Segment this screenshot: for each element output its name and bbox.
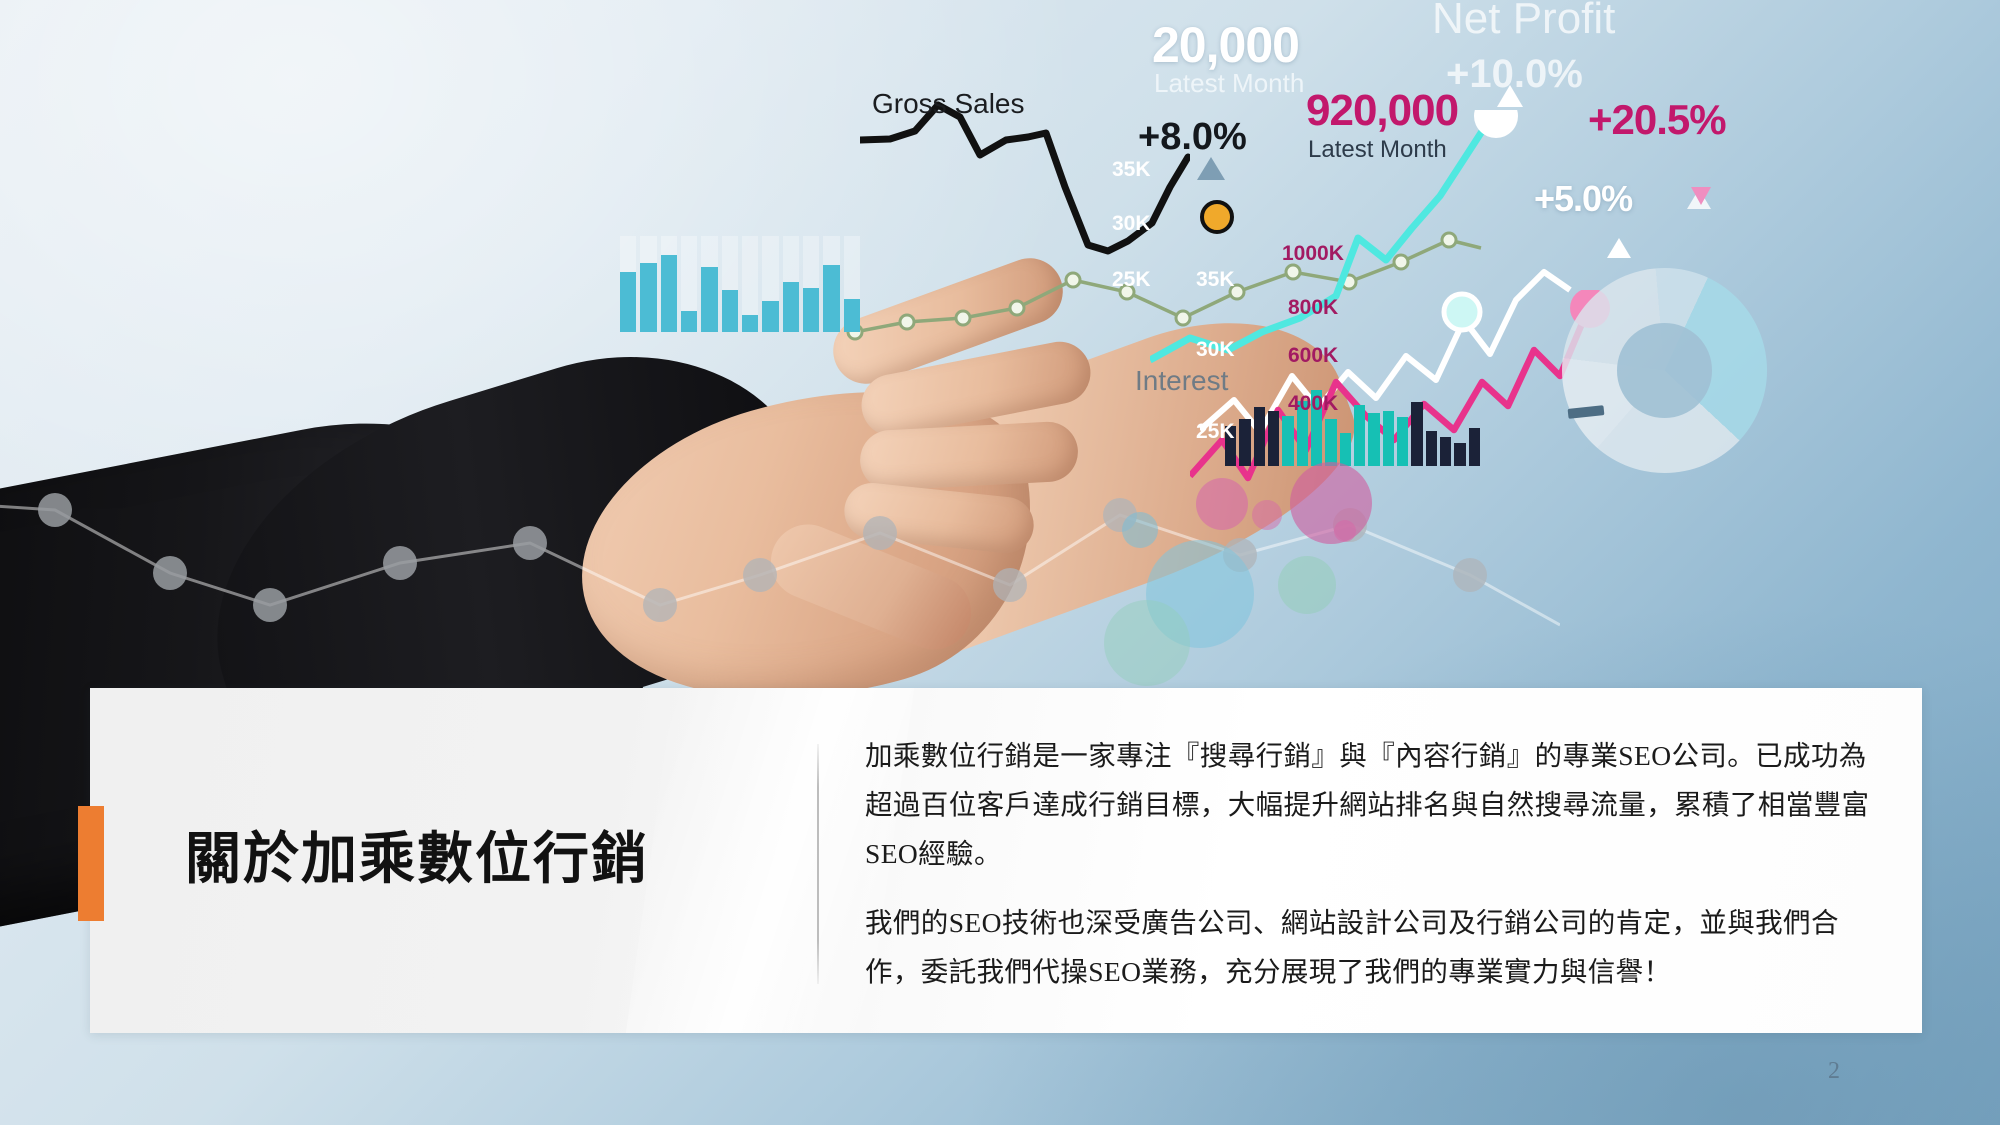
donut-chart [1562, 268, 1767, 473]
net-profit-label: Net Profit [1432, 0, 1615, 44]
secondary-change-white: +5.0% [1534, 178, 1632, 220]
axis-tick-right-1000k: 1000K [1282, 242, 1344, 266]
gross-sales-value: 20,000 [1152, 16, 1299, 74]
gross-sales-change: +8.0% [1138, 116, 1247, 159]
axis-tick-left-35k: 35K [1112, 158, 1151, 182]
interest-label: Interest [1135, 365, 1228, 397]
bubble [1196, 478, 1248, 530]
page-title: 關於加乘數位行銷 [185, 830, 785, 892]
axis-tick-left-30k: 30K [1112, 212, 1151, 236]
axis-tick-right-400k: 400K [1288, 392, 1338, 416]
amber-data-marker [1200, 200, 1234, 234]
axis-tick-right-800k: 800K [1288, 296, 1338, 320]
body-paragraph-1: 加乘數位行銷是一家專注『搜尋行銷』與『內容行銷』的專業SEO公司。已成功為超過百… [865, 732, 1875, 879]
down-triangle-marker-pink [1690, 186, 1712, 206]
bubble [1290, 462, 1372, 544]
bubble [1252, 500, 1282, 530]
axis-tick-left-25k: 25K [1112, 268, 1151, 292]
page-number: 2 [1828, 1058, 1840, 1085]
net-profit-caption: Latest Month [1308, 136, 1447, 164]
gross-sales-label: Gross Sales [872, 88, 1025, 120]
up-triangle-marker-white-2 [1606, 237, 1632, 259]
net-profit-value: 920,000 [1306, 86, 1458, 136]
axis-tick-mid-35k: 35K [1196, 268, 1235, 292]
net-profit-change: +10.0% [1446, 52, 1583, 97]
body-paragraph-2: 我們的SEO技術也深受廣告公司、網站設計公司及行銷公司的肯定，並與我們合作，委託… [865, 899, 1875, 997]
content-card: 關於加乘數位行銷 加乘數位行銷是一家專注『搜尋行銷』與『內容行銷』的專業SEO公… [90, 688, 1922, 1033]
axis-tick-mid-25k: 25K [1196, 420, 1235, 444]
secondary-change-magenta: +20.5% [1588, 96, 1726, 144]
slide: Gross Sales 20,000 Latest Month +8.0% Ne… [0, 0, 2000, 1125]
body-text: 加乘數位行銷是一家專注『搜尋行銷』與『內容行銷』的專業SEO公司。已成功為超過百… [865, 732, 1875, 997]
axis-tick-mid-30k: 30K [1196, 338, 1235, 362]
axis-tick-right-600k: 600K [1288, 344, 1338, 368]
bubble [1334, 520, 1356, 542]
bubble [1278, 556, 1336, 614]
bubble [1122, 512, 1158, 548]
accent-bar [78, 806, 104, 921]
light-blue-bar-chart [620, 236, 860, 332]
vertical-divider [817, 744, 819, 984]
gross-sales-caption: Latest Month [1154, 68, 1304, 99]
navy-teal-bar-chart [1225, 390, 1480, 466]
bubble [1104, 600, 1190, 686]
